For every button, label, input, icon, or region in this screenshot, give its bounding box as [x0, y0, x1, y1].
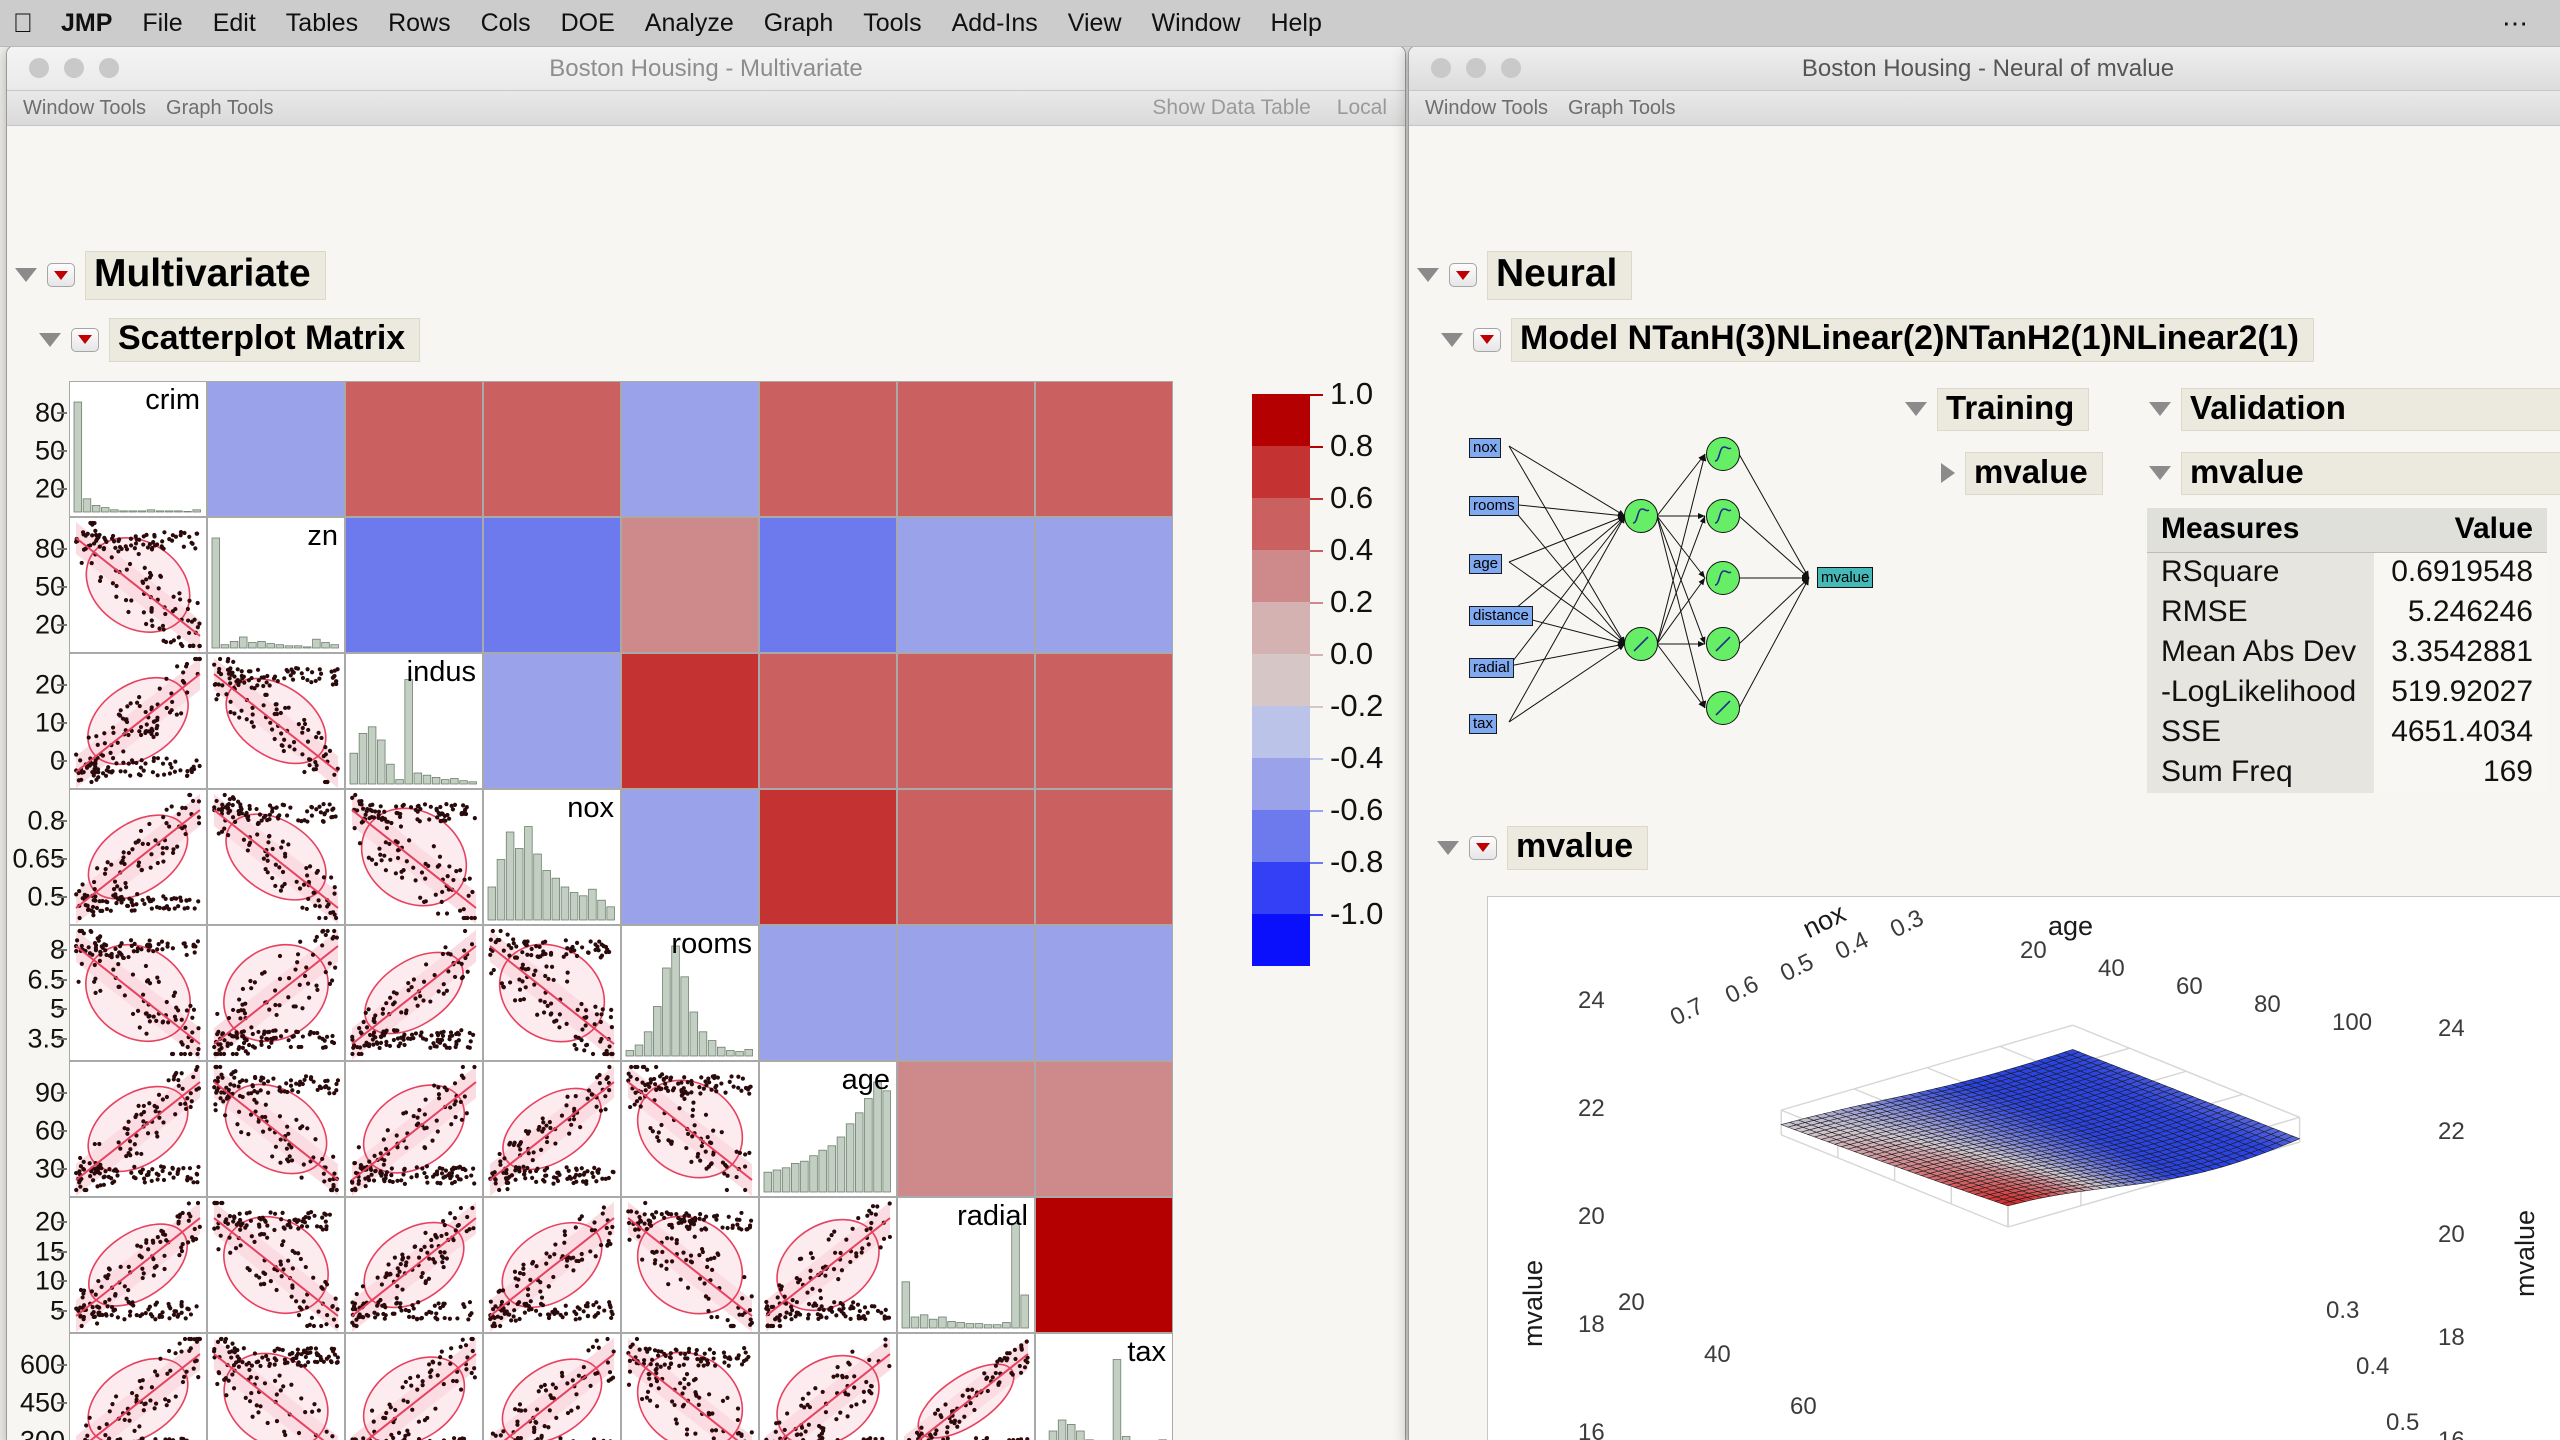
correlation-cell — [759, 517, 897, 653]
disclosure-triangle-icon[interactable] — [1437, 841, 1459, 855]
correlation-cell — [759, 925, 897, 1061]
legend-color-swatch — [1252, 654, 1310, 706]
correlation-cell — [1035, 1197, 1173, 1333]
scatter-cell — [345, 1333, 483, 1440]
legend-color-swatch — [1252, 498, 1310, 550]
window-multivariate[interactable]: Boston Housing - Multivariate Window Too… — [6, 45, 1406, 1440]
histogram-cell: radial — [897, 1197, 1035, 1333]
measure-value: 519.92027 — [2374, 673, 2547, 713]
scatterplot-matrix-y-axis: 805020805020201000.80.650.586.553.590603… — [6, 381, 65, 1440]
legend-tick-mark — [1310, 394, 1323, 396]
surface-age-tick: 100 — [2332, 1009, 2372, 1037]
legend-color-swatch — [1252, 706, 1310, 758]
zoom-icon[interactable] — [1501, 58, 1521, 78]
table-row: -LogLikelihood519.92027 — [2147, 673, 2547, 713]
outline-validation-mvalue[interactable]: mvalue — [2149, 452, 2560, 495]
scatter-cell — [759, 1333, 897, 1440]
disclosure-triangle-icon[interactable] — [39, 333, 61, 347]
correlation-cell — [897, 1061, 1035, 1197]
disclosure-triangle-icon[interactable] — [2149, 402, 2171, 416]
table-row: Sum Freq169 — [2147, 753, 2547, 793]
scatter-cell — [69, 653, 207, 789]
surface-z-tick-right: 20 — [2438, 1221, 2465, 1249]
legend-tick-mark — [1310, 706, 1323, 708]
legend-color-swatch — [1252, 862, 1310, 914]
minimize-icon[interactable] — [1466, 58, 1486, 78]
measure-value: 4651.4034 — [2374, 713, 2547, 753]
y-axis-tick-mark — [57, 586, 67, 588]
outline-training[interactable]: Training — [1905, 388, 2089, 431]
correlation-cell — [759, 653, 897, 789]
red-triangle-menu-icon[interactable] — [1449, 263, 1477, 287]
network-input-node[interactable]: nox — [1469, 438, 1501, 458]
legend-color-swatch — [1252, 550, 1310, 602]
variable-label: age — [842, 1064, 890, 1097]
outline-label-neural: Neural — [1487, 251, 1632, 300]
scatter-cell — [69, 1333, 207, 1440]
legend-tick-mark — [1310, 862, 1323, 864]
legend-tick-mark — [1310, 550, 1323, 552]
measure-value: 3.3542881 — [2374, 633, 2547, 673]
scatter-cell — [621, 1061, 759, 1197]
y-axis-tick-mark — [57, 548, 67, 550]
legend-color-swatch — [1252, 394, 1310, 446]
network-hidden-node[interactable] — [1624, 499, 1658, 533]
surface-z-axis-label-right: mvalue — [2510, 1210, 2541, 1297]
variable-label: zn — [307, 520, 338, 553]
y-axis-tick-mark — [57, 1310, 67, 1312]
red-triangle-menu-icon[interactable] — [47, 263, 75, 287]
surface-age-tick: 40 — [2098, 955, 2125, 983]
ellipsis-icon[interactable]: ⋯ — [2472, 8, 2560, 39]
legend-color-swatch — [1252, 810, 1310, 862]
correlation-cell — [1035, 925, 1173, 1061]
multivariate-body: Multivariate Scatterplot Matrix crimznin… — [7, 126, 1405, 1440]
disclosure-triangle-icon[interactable] — [2149, 466, 2171, 480]
scatter-cell — [207, 789, 345, 925]
table-row: RMSE5.246246 — [2147, 593, 2547, 633]
correlation-cell — [483, 381, 621, 517]
surface-age-tick-bottom: 60 — [1790, 1393, 1817, 1421]
legend-tick-label: 0.8 — [1330, 428, 1373, 464]
correlation-cell — [621, 653, 759, 789]
legend-tick-mark — [1310, 914, 1323, 916]
outline-model[interactable]: Model NTanH(3)NLinear(2)NTanH2(1)NLinear… — [1441, 318, 2314, 362]
correlation-cell — [1035, 789, 1173, 925]
legend-tick-mark — [1310, 498, 1323, 500]
menu-item-window[interactable]: Window — [1137, 0, 1256, 47]
measure-value: 0.6919548 — [2374, 553, 2547, 594]
surface-nox-tick-bottom: 0.4 — [2356, 1353, 2389, 1381]
scatter-cell — [207, 925, 345, 1061]
correlation-cell — [621, 789, 759, 925]
validation-response-label: mvalue — [2181, 452, 2560, 495]
histogram-cell: indus — [345, 653, 483, 789]
network-input-node[interactable]: radial — [1469, 658, 1514, 678]
outline-label-model: Model NTanH(3)NLinear(2)NTanH2(1)NLinear… — [1511, 318, 2314, 362]
correlation-cell — [345, 517, 483, 653]
window-controls[interactable] — [1431, 58, 1521, 78]
outline-neural[interactable]: Neural — [1417, 251, 1632, 300]
menu-item-file[interactable]: File — [127, 0, 197, 47]
neural-network-diagram[interactable]: noxroomsagedistanceradialtaxmvalue — [1439, 416, 1859, 736]
legend-tick-label: -0.6 — [1330, 792, 1383, 828]
correlation-cell — [1035, 381, 1173, 517]
disclosure-triangle-icon[interactable] — [15, 268, 37, 282]
surface-z-tick-right: 16 — [2438, 1427, 2465, 1440]
disclosure-triangle-icon[interactable] — [1441, 333, 1463, 347]
network-output-node[interactable]: mvalue — [1817, 567, 1873, 588]
disclosure-triangle-icon[interactable] — [1417, 268, 1439, 282]
close-icon[interactable] — [29, 58, 49, 78]
surface-age-tick-bottom: 20 — [1618, 1289, 1645, 1317]
measures-table: Measures Value RSquare0.6919548RMSE5.246… — [2147, 508, 2547, 793]
y-axis-tick-mark — [57, 949, 67, 951]
measures-body: RSquare0.6919548RMSE5.246246Mean Abs Dev… — [2147, 553, 2547, 794]
menu-item-rows[interactable]: Rows — [373, 0, 466, 47]
scatter-cell — [69, 789, 207, 925]
scatter-cell — [759, 1197, 897, 1333]
y-axis-tick-mark — [57, 1221, 67, 1223]
surface-age-tick-bottom: 40 — [1704, 1341, 1731, 1369]
y-axis-tick-mark — [57, 412, 67, 414]
training-response-label: mvalue — [1965, 452, 2103, 495]
outline-multivariate[interactable]: Multivariate — [15, 251, 326, 300]
surface-y-axis-label: age — [2048, 911, 2093, 942]
network-input-node[interactable]: rooms — [1469, 496, 1519, 516]
correlation-cell — [621, 381, 759, 517]
correlation-cell — [207, 381, 345, 517]
scatter-cell — [621, 1333, 759, 1440]
scatter-cell — [345, 1061, 483, 1197]
menu-item-tables[interactable]: Tables — [271, 0, 373, 47]
network-hidden-node[interactable] — [1624, 627, 1658, 661]
network-input-node[interactable]: age — [1469, 554, 1502, 574]
scatter-cell — [345, 1197, 483, 1333]
outline-label-scatterplot-matrix: Scatterplot Matrix — [109, 318, 420, 362]
y-axis-tick-mark — [57, 1168, 67, 1170]
network-hidden-node[interactable] — [1706, 627, 1740, 661]
correlation-cell — [897, 925, 1035, 1061]
menu-item-edit[interactable]: Edit — [198, 0, 271, 47]
titlebar-neural[interactable]: Boston Housing - Neural of mvalue — [1409, 46, 2560, 91]
scatter-cell — [621, 1197, 759, 1333]
window-title-neural: Boston Housing - Neural of mvalue — [1409, 46, 2560, 91]
surface-z-tick: 24 — [1578, 987, 1605, 1015]
variable-label: radial — [957, 1200, 1028, 1233]
measure-name: Mean Abs Dev — [2147, 633, 2374, 673]
scatter-cell — [897, 1333, 1035, 1440]
correlation-cell — [621, 517, 759, 653]
outline-validation[interactable]: Validation — [2149, 388, 2560, 431]
legend-tick-mark — [1310, 602, 1323, 604]
show-data-table-link[interactable]: Show Data Table — [1152, 96, 1310, 120]
surface-z-tick: 16 — [1578, 1419, 1605, 1440]
scatter-cell — [483, 925, 621, 1061]
window-tools-button[interactable]: Window Tools — [1425, 97, 1548, 120]
variable-label: nox — [567, 792, 614, 825]
legend-tick-label: -0.2 — [1330, 688, 1383, 724]
measure-name: -LogLikelihood — [2147, 673, 2374, 713]
measures-header-row: Measures Value — [2147, 508, 2547, 553]
measures-col-header: Measures — [2147, 508, 2374, 553]
scatterplot-matrix-grid[interactable]: crimznindusnoxroomsageradialtax — [69, 381, 1179, 1440]
measure-name: RSquare — [2147, 553, 2374, 594]
network-hidden-node[interactable] — [1706, 499, 1740, 533]
surface-nox-tick-bottom: 0.3 — [2326, 1297, 2359, 1325]
outline-label-multivariate: Multivariate — [85, 251, 326, 300]
scatter-cell — [69, 517, 207, 653]
measure-name: Sum Freq — [2147, 753, 2374, 793]
y-axis-tick-mark — [57, 624, 67, 626]
surface-age-tick: 80 — [2254, 991, 2281, 1019]
correlation-cell — [897, 789, 1035, 925]
scatter-cell — [483, 1333, 621, 1440]
scatter-cell — [345, 925, 483, 1061]
menu-item-help[interactable]: Help — [1255, 0, 1336, 47]
surface-nox-tick-bottom: 0.5 — [2386, 1409, 2419, 1437]
network-input-node[interactable]: distance — [1469, 606, 1533, 626]
correlation-cell — [897, 381, 1035, 517]
surface-mesh — [1488, 897, 2560, 1440]
correlation-cell — [1035, 653, 1173, 789]
y-axis-tick-mark — [57, 1251, 67, 1253]
y-axis-tick-mark — [57, 722, 67, 724]
variable-label: rooms — [671, 928, 752, 961]
scatter-cell — [207, 1061, 345, 1197]
legend-tick-label: -0.4 — [1330, 740, 1383, 776]
close-icon[interactable] — [1431, 58, 1451, 78]
scatter-cell — [345, 789, 483, 925]
legend-tick-mark — [1310, 654, 1323, 656]
outline-training-mvalue[interactable]: mvalue — [1941, 452, 2103, 495]
surface-z-tick: 22 — [1578, 1095, 1605, 1123]
table-row: RSquare0.6919548 — [2147, 553, 2547, 594]
histogram-cell: nox — [483, 789, 621, 925]
legend-tick-mark — [1310, 446, 1323, 448]
red-triangle-menu-icon[interactable] — [1469, 836, 1497, 860]
surface-z-tick-right: 18 — [2438, 1324, 2465, 1352]
y-axis-tick-mark — [57, 979, 67, 981]
surface-z-tick: 18 — [1578, 1311, 1605, 1339]
menu-item-addins[interactable]: Add-Ins — [937, 0, 1053, 47]
red-triangle-menu-icon[interactable] — [1473, 328, 1501, 352]
menu-item-cols[interactable]: Cols — [466, 0, 546, 47]
correlation-cell — [483, 653, 621, 789]
histogram-cell: tax — [1035, 1333, 1173, 1440]
network-input-node[interactable]: tax — [1469, 714, 1497, 734]
window-neural[interactable]: Boston Housing - Neural of mvalue Window… — [1408, 45, 2560, 1440]
correlation-cell — [759, 381, 897, 517]
neural-body: Neural Model NTanH(3)NLinear(2)NTanH2(1)… — [1409, 126, 2560, 1440]
scatter-cell — [483, 1061, 621, 1197]
disclosure-triangle-icon[interactable] — [1905, 402, 1927, 416]
legend-tick-label: 0.4 — [1330, 532, 1373, 568]
table-row: SSE4651.4034 — [2147, 713, 2547, 753]
red-triangle-menu-icon[interactable] — [71, 328, 99, 352]
surface-age-tick: 60 — [2176, 973, 2203, 1001]
scatter-cell — [207, 1197, 345, 1333]
y-axis-tick-mark — [57, 1402, 67, 1404]
menu-item-tools[interactable]: Tools — [848, 0, 936, 47]
legend-tick-label: 0.0 — [1330, 636, 1373, 672]
legend-tick-label: 1.0 — [1330, 376, 1373, 412]
titlebar-multivariate[interactable]: Boston Housing - Multivariate — [7, 46, 1405, 91]
disclosure-triangle-collapsed-icon[interactable] — [1941, 463, 1955, 483]
local-link[interactable]: Local — [1337, 96, 1387, 120]
variable-label: crim — [145, 384, 200, 417]
y-axis-tick-mark — [57, 1130, 67, 1132]
variable-label: tax — [1127, 1336, 1166, 1369]
y-axis-tick-mark — [57, 1038, 67, 1040]
surface-plot-3d[interactable]: noxagemvaluemvaluenox0.70.60.50.40.32040… — [1487, 896, 2560, 1440]
value-col-header: Value — [2374, 508, 2547, 553]
legend-tick-label: 0.2 — [1330, 584, 1373, 620]
measure-name: SSE — [2147, 713, 2374, 753]
correlation-cell — [897, 653, 1035, 789]
window-title-multivariate: Boston Housing - Multivariate — [7, 46, 1405, 91]
histogram-cell: crim — [69, 381, 207, 517]
scatter-cell — [207, 653, 345, 789]
measure-value: 5.246246 — [2374, 593, 2547, 633]
histogram-cell: rooms — [621, 925, 759, 1061]
y-axis-tick-mark — [57, 1280, 67, 1282]
histogram-cell: zn — [207, 517, 345, 653]
surface-z-tick: 20 — [1578, 1203, 1605, 1231]
legend-tick-mark — [1310, 758, 1323, 760]
toolstrip-multivariate: Window Tools Graph Tools Show Data Table… — [7, 91, 1405, 126]
correlation-cell — [897, 517, 1035, 653]
y-axis-tick-mark — [57, 1008, 67, 1010]
surface-z-tick-right: 24 — [2438, 1015, 2465, 1043]
toolstrip-neural: Window Tools Graph Tools — [1409, 91, 2560, 126]
y-axis-tick-mark — [57, 488, 67, 490]
menu-item-doe[interactable]: DOE — [546, 0, 630, 47]
y-axis-tick-mark — [57, 896, 67, 898]
scatterplot-matrix[interactable]: crimznindusnoxroomsageradialtax 80502080… — [69, 381, 1179, 1440]
correlation-cell — [483, 517, 621, 653]
network-hidden-node[interactable] — [1706, 561, 1740, 595]
surface-z-axis-label: mvalue — [1518, 1260, 1549, 1347]
legend-color-swatch — [1252, 446, 1310, 498]
measure-name: RMSE — [2147, 593, 2374, 633]
tab-validation[interactable]: Validation — [2181, 388, 2560, 431]
mac-menu-bar:  JMP File Edit Tables Rows Cols DOE Ana… — [0, 0, 2560, 47]
y-axis-tick-label: 300 — [20, 1425, 65, 1440]
graph-tools-button[interactable]: Graph Tools — [1568, 97, 1675, 120]
legend-tick-mark — [1310, 810, 1323, 812]
table-row: Mean Abs Dev3.3542881 — [2147, 633, 2547, 673]
y-axis-tick-mark — [57, 858, 67, 860]
apple-icon[interactable]:  — [0, 10, 46, 37]
network-hidden-node[interactable] — [1706, 437, 1740, 471]
correlation-cell — [1035, 1061, 1173, 1197]
tab-training[interactable]: Training — [1937, 388, 2089, 431]
surface-z-tick-right: 22 — [2438, 1118, 2465, 1146]
legend-tick-label: -0.8 — [1330, 844, 1383, 880]
legend-color-swatch — [1252, 602, 1310, 654]
histogram-cell: age — [759, 1061, 897, 1197]
network-hidden-node[interactable] — [1706, 691, 1740, 725]
menu-item-analyze[interactable]: Analyze — [630, 0, 749, 47]
outline-scatterplot-matrix[interactable]: Scatterplot Matrix — [39, 318, 420, 362]
correlation-cell — [759, 789, 897, 925]
outline-label-profiler: mvalue — [1507, 826, 1648, 870]
y-axis-tick-mark — [57, 760, 67, 762]
scatter-cell — [207, 1333, 345, 1440]
network-edges — [1439, 416, 1859, 736]
y-axis-tick-mark — [57, 820, 67, 822]
y-axis-tick-mark — [57, 684, 67, 686]
window-tools-button[interactable]: Window Tools — [23, 97, 146, 120]
menu-item-view[interactable]: View — [1053, 0, 1137, 47]
y-axis-tick-mark — [57, 1092, 67, 1094]
y-axis-tick-mark — [57, 1364, 67, 1366]
graph-tools-button[interactable]: Graph Tools — [166, 97, 273, 120]
scatter-cell — [69, 1197, 207, 1333]
correlation-cell — [1035, 517, 1173, 653]
variable-label: indus — [407, 656, 476, 689]
legend-tick-label: 0.6 — [1330, 480, 1373, 516]
y-axis-tick-mark — [57, 450, 67, 452]
menu-item-jmp[interactable]: JMP — [46, 0, 127, 47]
legend-color-swatch — [1252, 758, 1310, 810]
correlation-cell — [345, 381, 483, 517]
outline-profiler-mvalue[interactable]: mvalue — [1437, 826, 1648, 870]
zoom-icon[interactable] — [99, 58, 119, 78]
legend-color-swatch — [1252, 914, 1310, 966]
minimize-icon[interactable] — [64, 58, 84, 78]
scatter-cell — [483, 1197, 621, 1333]
window-controls[interactable] — [29, 58, 119, 78]
scatter-cell — [69, 925, 207, 1061]
surface-age-tick: 20 — [2020, 937, 2047, 965]
measure-value: 169 — [2374, 753, 2547, 793]
menu-item-graph[interactable]: Graph — [749, 0, 848, 47]
legend-tick-label: -1.0 — [1330, 896, 1383, 932]
scatter-cell — [69, 1061, 207, 1197]
